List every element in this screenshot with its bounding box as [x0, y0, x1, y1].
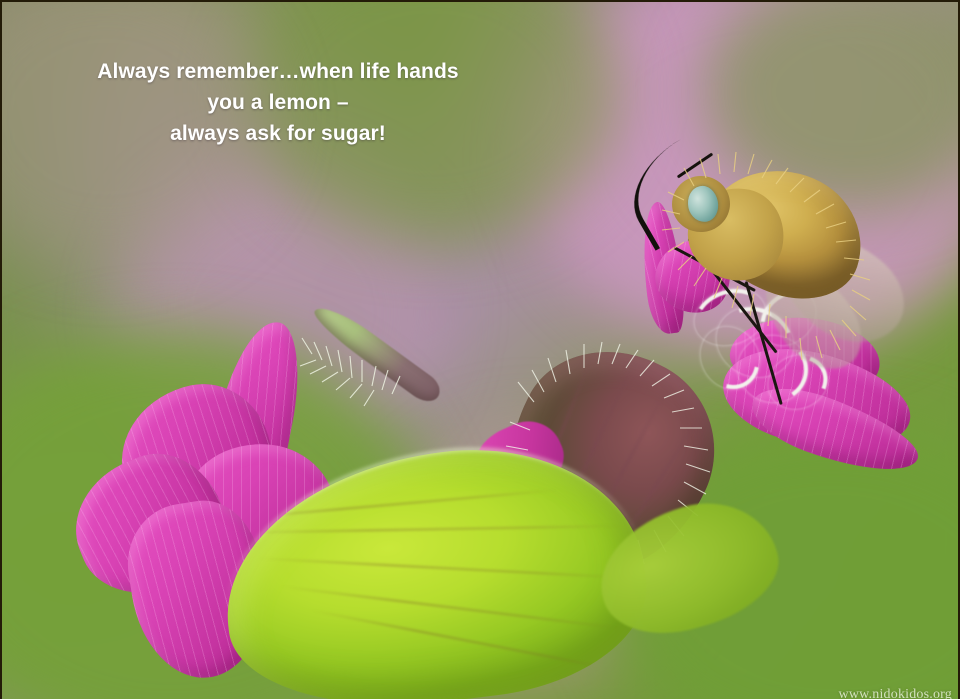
- quote-line-1: Always remember…when life hands: [2, 56, 554, 87]
- photo-quote-card: Always remember…when life hands you a le…: [0, 0, 960, 699]
- watermark-url: www.nidokidos.org: [839, 687, 952, 699]
- quote-line-3: always ask for sugar!: [2, 118, 554, 149]
- quote-line-2: you a lemon –: [2, 87, 554, 118]
- bee-fly-insect: [614, 130, 914, 400]
- quote-text-block: Always remember…when life hands you a le…: [2, 56, 554, 149]
